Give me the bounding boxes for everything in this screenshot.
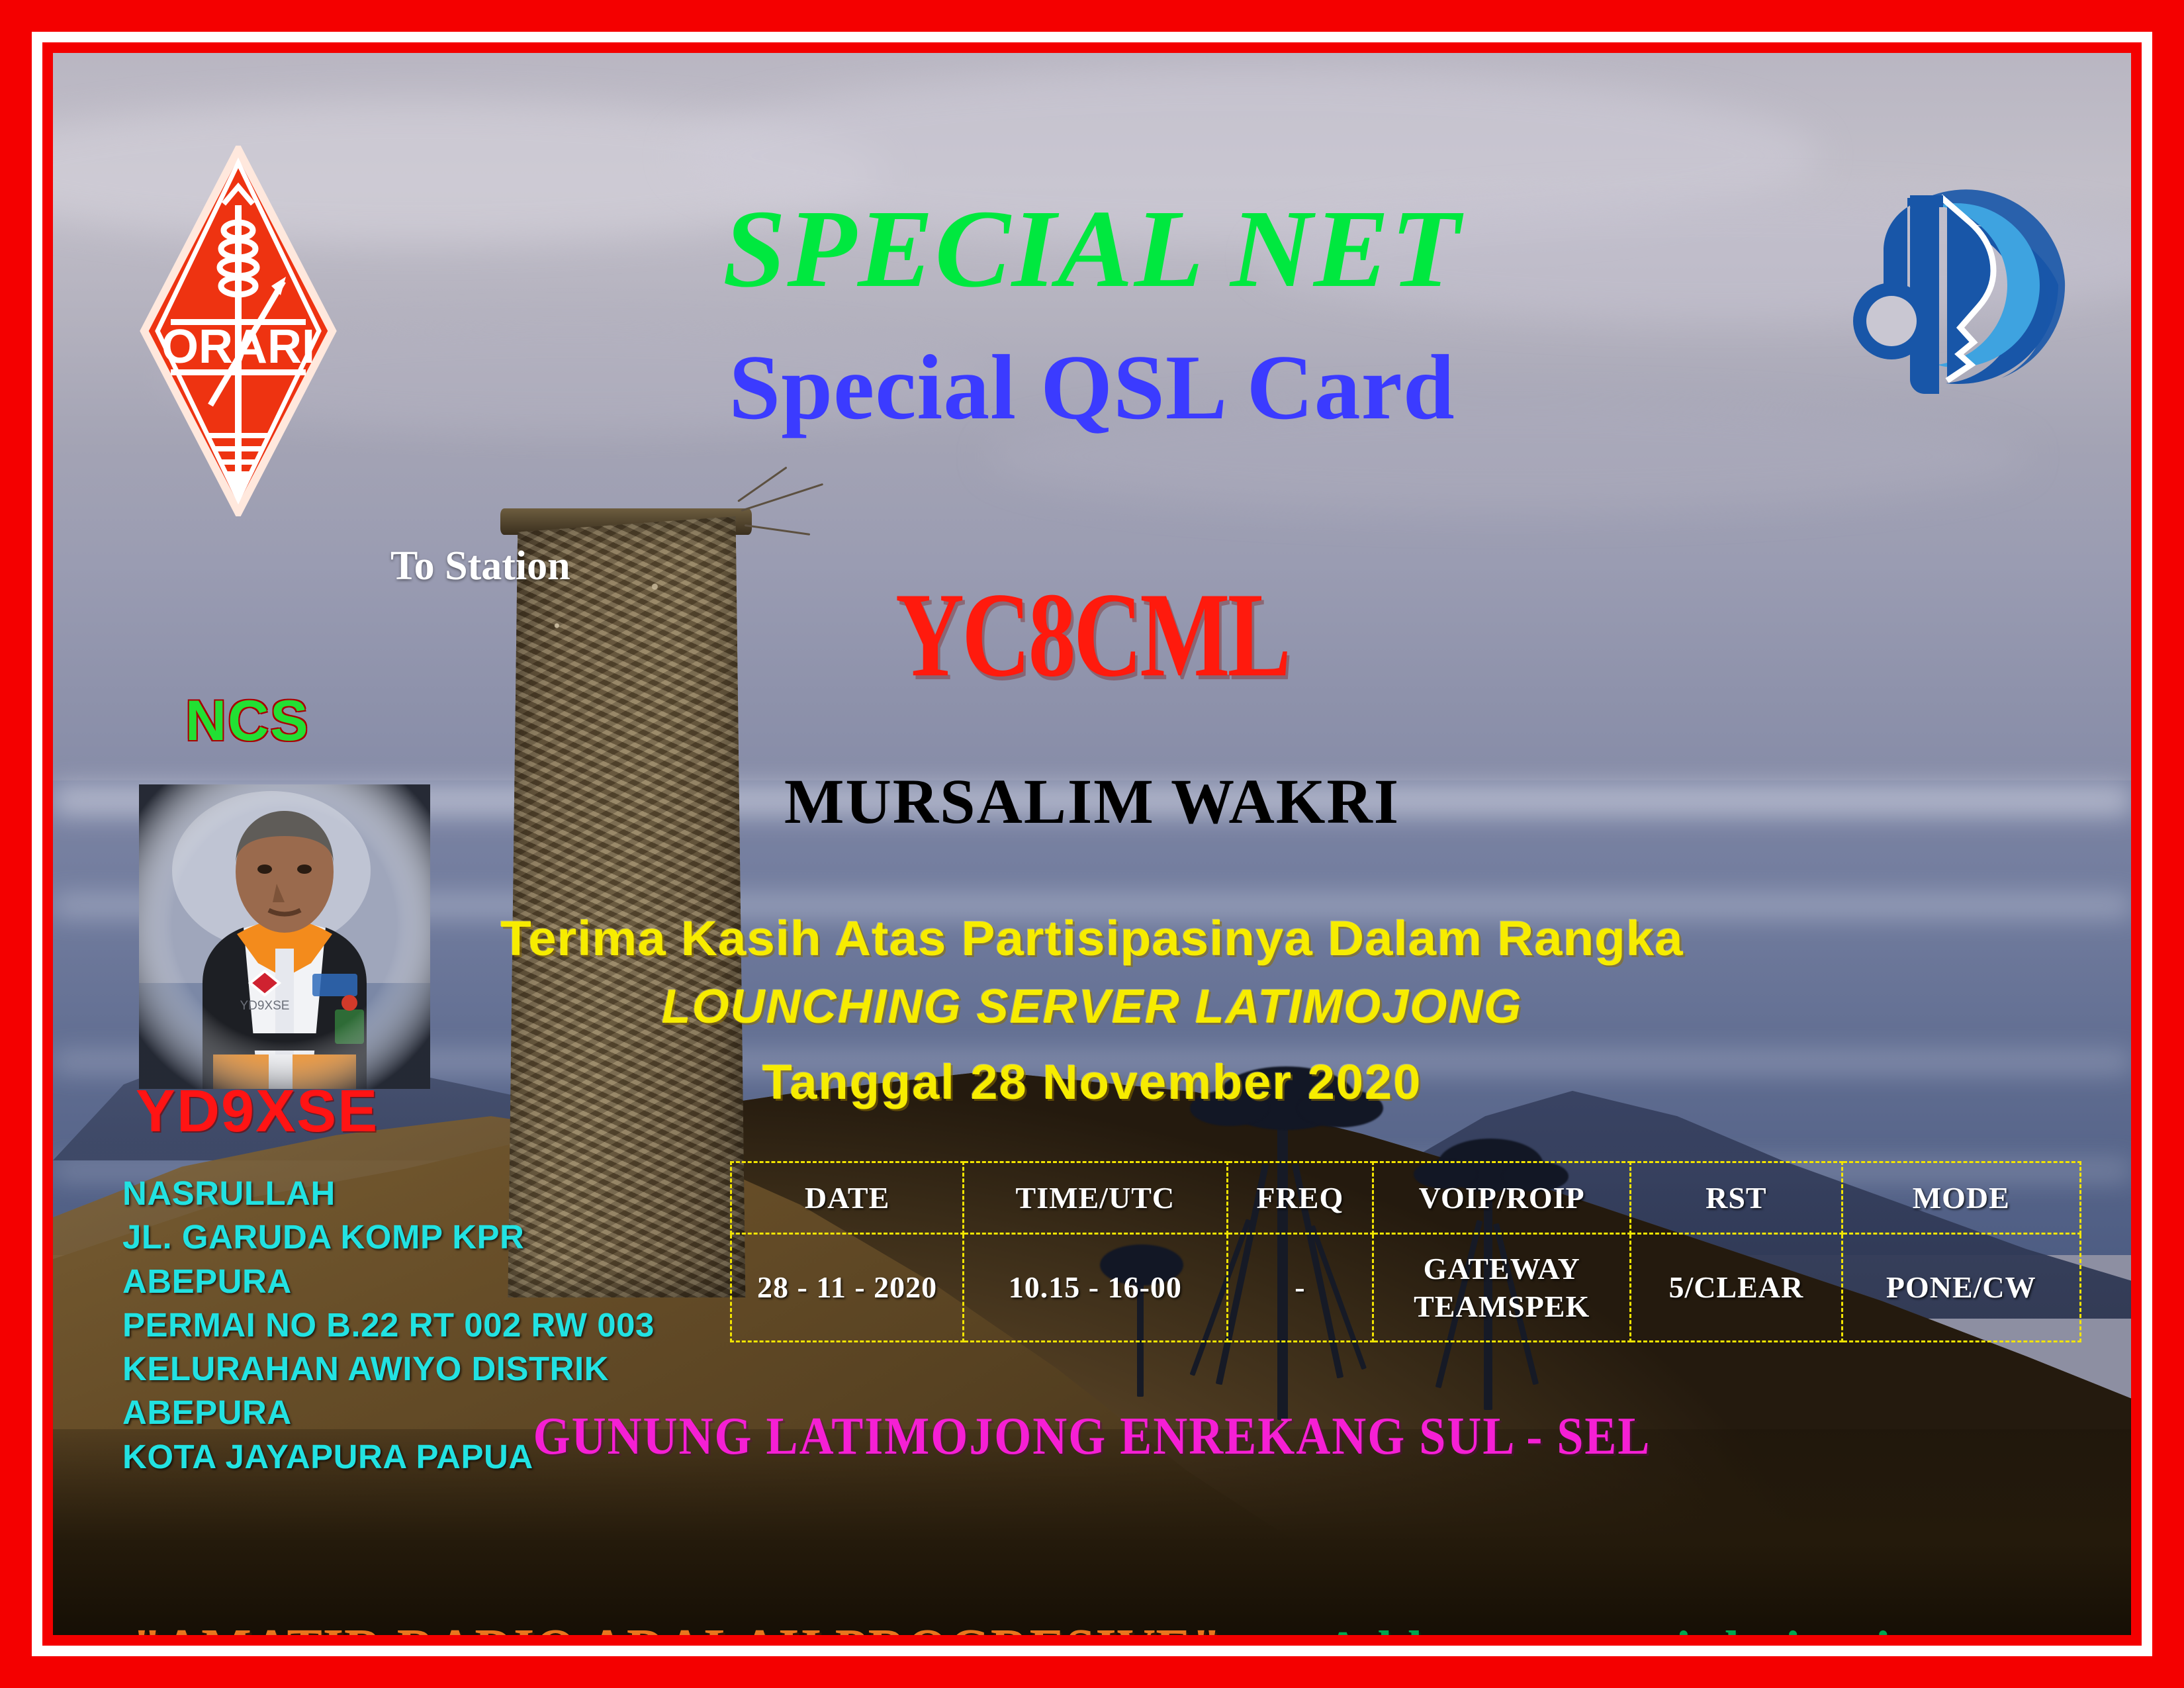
background-photograph: ORARI [53,53,2131,1635]
motto-text: "AMATIR RADIO ADALAH PROGRESIVE" [132,1617,1222,1635]
cell-voip: GATEWAY TEAMSPEK [1373,1234,1631,1342]
cell-rst: 5/CLEAR [1631,1234,1842,1342]
table-header-time: TIME/UTC [964,1162,1227,1234]
ncs-label: NCS [185,688,310,754]
thanks-line: Terima Kasih Atas Partisipasinya Dalam R… [53,910,2131,966]
address-line: PERMAI NO B.22 RT 002 RW 003 [122,1303,655,1347]
table-header-mode: MODE [1842,1162,2080,1234]
address-line: JL. GARUDA KOMP KPR [122,1215,655,1259]
cell-time: 10.15 - 16-00 [964,1234,1227,1342]
operator-name: MURSALIM WAKRI [53,765,2131,838]
card-inner-red-border: ORARI [42,42,2142,1646]
location-line: GUNUNG LATIMOJONG ENREKANG SUL - SEL [53,1405,2131,1467]
station-callsign: YC8CML [126,565,2058,705]
cell-mode: PONE/CW [1842,1234,2080,1342]
page-subtitle: Special QSL Card [53,334,2131,441]
event-line: LOUNCHING SERVER LATIMOJONG [53,980,2131,1034]
page-title: SPECIAL NET [53,185,2131,313]
ncs-callsign: YD9XSE [136,1078,379,1146]
table-header-voip: VOIP/ROIP [1373,1162,1631,1234]
cell-freq: - [1227,1234,1373,1342]
cell-date: 28 - 11 - 2020 [731,1234,964,1342]
table-header-rst: RST [1631,1162,1842,1234]
card-white-gap: ORARI [32,32,2152,1656]
table-row: 28 - 11 - 2020 10.15 - 16-00 - GATEWAY T… [731,1234,2081,1342]
qsl-card: ORARI [0,0,2184,1688]
website-address: Address : amatir.latimojong.com [1324,1620,2085,1635]
table-header-date: DATE [731,1162,964,1234]
address-line: ABEPURA [122,1260,655,1303]
qso-log-table: DATE TIME/UTC FREQ VOIP/ROIP RST MODE 28… [730,1161,2081,1342]
address-line: KELURAHAN AWIYO DISTRIK [122,1347,655,1391]
address-line: NASRULLAH [122,1172,655,1215]
table-header-freq: FREQ [1227,1162,1373,1234]
table-header-row: DATE TIME/UTC FREQ VOIP/ROIP RST MODE [731,1162,2081,1234]
